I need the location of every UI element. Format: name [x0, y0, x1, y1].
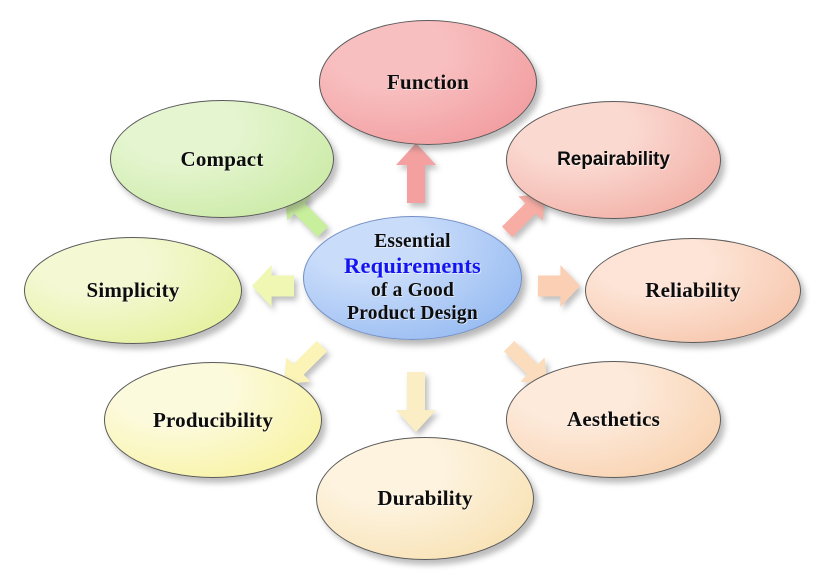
node-aesthetics[interactable]: Aesthetics — [506, 361, 721, 478]
node-repairability[interactable]: Repairability — [506, 101, 721, 219]
product-design-diagram: Function Repairability Reliability Aesth… — [0, 0, 823, 575]
node-simplicity-label: Simplicity — [80, 279, 185, 302]
node-compact-label: Compact — [174, 148, 269, 171]
center-node[interactable]: Essential Requirements of a Good Product… — [303, 216, 522, 340]
center-line-1: Essential — [344, 231, 481, 254]
node-reliability-label: Reliability — [639, 279, 747, 302]
arrow-left-icon — [252, 265, 294, 307]
arrow-right-icon — [538, 265, 580, 307]
arrow-down-icon — [396, 372, 436, 432]
node-function-label: Function — [381, 71, 475, 94]
center-line-2-highlight: Requirements — [344, 253, 481, 279]
node-simplicity[interactable]: Simplicity — [24, 237, 242, 344]
arrow-up-icon — [396, 143, 436, 203]
node-function[interactable]: Function — [319, 20, 537, 145]
center-line-4: Product Design — [344, 303, 481, 326]
node-aesthetics-label: Aesthetics — [561, 408, 666, 431]
node-reliability[interactable]: Reliability — [585, 238, 801, 343]
node-compact[interactable]: Compact — [110, 100, 334, 218]
node-durability[interactable]: Durability — [316, 437, 534, 560]
center-node-label: Essential Requirements of a Good Product… — [338, 231, 487, 326]
center-line-3: of a Good — [344, 280, 481, 303]
node-durability-label: Durability — [371, 487, 478, 510]
node-repairability-label: Repairability — [551, 150, 676, 171]
node-producibility[interactable]: Producibility — [104, 362, 322, 478]
node-producibility-label: Producibility — [147, 409, 279, 432]
